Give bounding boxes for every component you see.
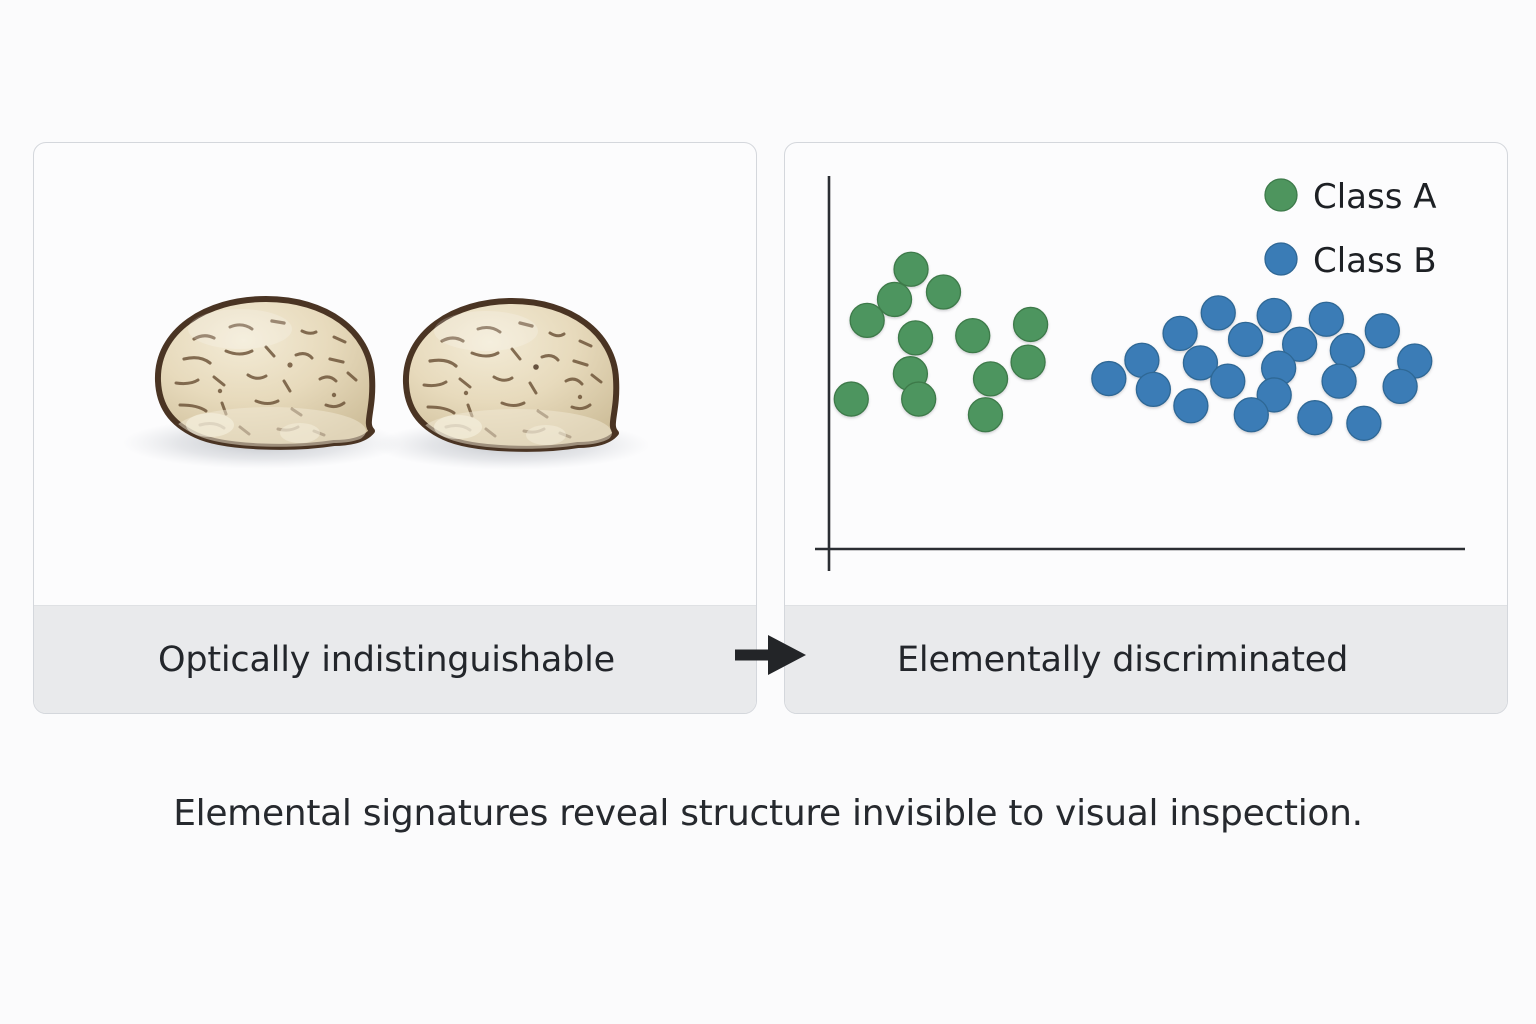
scatter-point xyxy=(974,362,1008,396)
scatter-point xyxy=(902,382,936,416)
scatter-point xyxy=(1309,302,1343,336)
scatter-point xyxy=(1229,322,1263,356)
scatter-point xyxy=(1014,307,1048,341)
series-class-a-points xyxy=(834,252,1047,431)
comparison-figure: Optically indistinguishable xyxy=(0,0,1536,1024)
scatter-point xyxy=(1092,362,1126,396)
scatter-point xyxy=(1234,398,1268,432)
legend-label-class-b: Class B xyxy=(1313,241,1437,281)
legend-entry-class-b[interactable]: Class B xyxy=(1265,241,1437,281)
panel-optical[interactable]: Optically indistinguishable xyxy=(33,142,757,714)
scatter-point xyxy=(1257,299,1291,333)
scatter-point xyxy=(894,252,928,286)
scatter-point xyxy=(1365,314,1399,348)
scatter-point xyxy=(1383,369,1417,403)
legend-entry-class-a[interactable]: Class A xyxy=(1265,177,1437,217)
figure-caption: Elemental signatures reveal structure in… xyxy=(0,793,1536,834)
seed-left xyxy=(158,299,372,455)
scatter-point xyxy=(956,319,990,353)
legend-label-class-a: Class A xyxy=(1313,177,1437,217)
scatter-point xyxy=(1174,389,1208,423)
scatter-point xyxy=(926,275,960,309)
scatter-point xyxy=(1330,334,1364,368)
seed-illustration xyxy=(34,143,756,606)
scatter-point xyxy=(1347,406,1381,440)
scatter-point xyxy=(1201,296,1235,330)
seed-right xyxy=(406,301,616,457)
scatter-point xyxy=(1011,345,1045,379)
scatter-point xyxy=(1322,364,1356,398)
right-arrow-icon xyxy=(735,634,807,676)
series-class-b-points xyxy=(1092,296,1432,440)
scatter-point xyxy=(1136,372,1170,406)
panel-elemental[interactable]: Class A Class B Elementally discriminate… xyxy=(784,142,1508,714)
legend-swatch-class-b xyxy=(1265,243,1297,275)
panel-optical-stage xyxy=(34,143,756,606)
chart-legend: Class A Class B xyxy=(1265,177,1437,281)
scatter-point xyxy=(1298,401,1332,435)
panel-elemental-caption: Elementally discriminated xyxy=(897,640,1348,680)
scatter-point xyxy=(1163,316,1197,350)
panel-elemental-stage: Class A Class B xyxy=(785,143,1507,606)
panel-optical-caption-bar: Optically indistinguishable xyxy=(34,605,756,713)
class-separation-scatter-chart: Class A Class B xyxy=(785,143,1507,606)
scatter-point xyxy=(1211,364,1245,398)
scatter-point xyxy=(878,282,912,316)
scatter-point xyxy=(899,321,933,355)
scatter-point xyxy=(834,382,868,416)
legend-swatch-class-a xyxy=(1265,179,1297,211)
scatter-point xyxy=(968,398,1002,432)
scatter-point xyxy=(850,303,884,337)
panel-elemental-caption-bar: Elementally discriminated xyxy=(785,605,1507,713)
panel-optical-caption: Optically indistinguishable xyxy=(158,640,615,680)
